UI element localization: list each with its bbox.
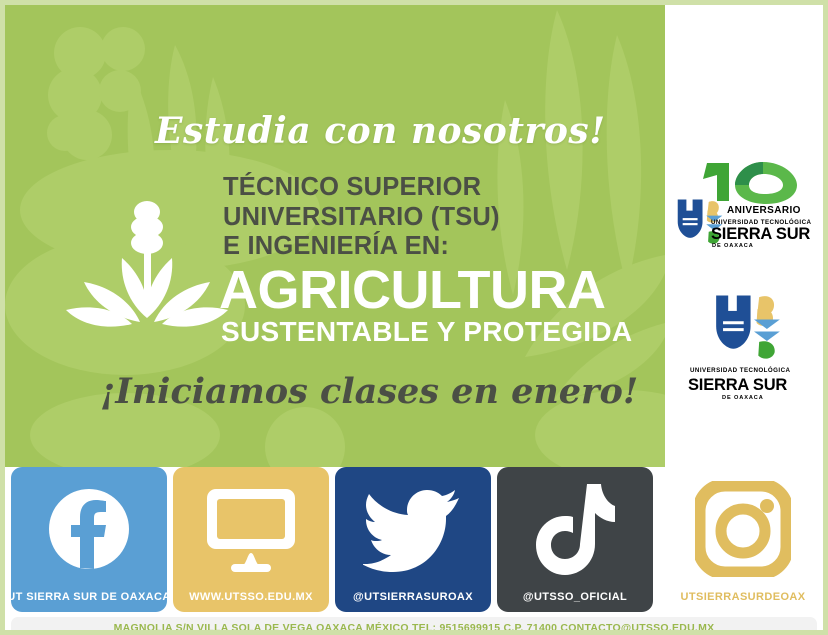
subtitle-line-2: UNIVERSITARIO (TSU) [223, 203, 500, 233]
address-text: MAGNOLIA S/N VILLA SOLA DE VEGA OAXACA M… [114, 622, 715, 634]
anniversary-logo-svg: ANIVERSARIO UNIVERSIDAD TECNOLÓGICA SIER… [671, 157, 823, 249]
social-tile-website[interactable]: WWW.UTSSO.EDU.MX [173, 467, 329, 612]
poster-root: Estudia con nosotros! TÉCNICO SUPERIOR U… [0, 0, 828, 635]
enrollment-callout-script: ¡Iniciamos clases en enero! [100, 371, 620, 412]
twitter-label: @UTSIERRASUROAX [353, 591, 473, 612]
instagram-icon [665, 467, 821, 591]
university-line3: DE OAXACA [722, 395, 764, 400]
facebook-label: UT SIERRA SUR DE OAXACA [11, 591, 167, 612]
wheat-plant-svg [60, 200, 235, 335]
subtitle-line-1: TÉCNICO SUPERIOR [223, 173, 500, 203]
logo-column: ANIVERSARIO UNIVERSIDAD TECNOLÓGICA SIER… [665, 5, 828, 467]
social-tile-twitter[interactable]: @UTSIERRASUROAX [335, 467, 491, 612]
address-footer: MAGNOLIA S/N VILLA SOLA DE VEGA OAXACA M… [11, 617, 817, 635]
headline-script: Estudia con nosotros! [155, 110, 595, 152]
twitter-icon [335, 467, 491, 591]
green-content-panel: Estudia con nosotros! TÉCNICO SUPERIOR U… [5, 5, 665, 467]
tiktok-label: @UTSSO_OFICIAL [523, 591, 627, 612]
social-links-row: UT SIERRA SUR DE OAXACA WWW.UTSSO.EDU.MX [5, 467, 823, 615]
anniversary-number-graphic [703, 162, 797, 204]
anniversary-sierra-sur: SIERRA SUR [711, 225, 810, 243]
program-subtitle: SUSTENTABLE Y PROTEGIDA [221, 318, 632, 346]
social-tile-instagram[interactable]: UTSIERRASURDEOAX [665, 467, 821, 612]
anniversary-oaxaca: DE OAXACA [712, 243, 754, 249]
university-line1: UNIVERSIDAD TECNOLÓGICA [690, 366, 790, 374]
university-line2: SIERRA SUR [688, 376, 787, 394]
shield-mark [716, 294, 780, 359]
social-tile-facebook[interactable]: UT SIERRA SUR DE OAXACA [11, 467, 167, 612]
tiktok-icon [497, 467, 653, 591]
social-tile-tiktok[interactable]: @UTSSO_OFICIAL [497, 467, 653, 612]
anniversary-logo: ANIVERSARIO UNIVERSIDAD TECNOLÓGICA SIER… [671, 157, 823, 249]
university-logo-svg: UNIVERSIDAD TECNOLÓGICA SIERRA SUR DE OA… [681, 290, 813, 400]
university-logo: UNIVERSIDAD TECNOLÓGICA SIERRA SUR DE OA… [681, 290, 813, 400]
instagram-label: UTSIERRASURDEOAX [681, 591, 806, 612]
monitor-icon [173, 467, 329, 591]
anniversary-word: ANIVERSARIO [727, 205, 801, 216]
website-label: WWW.UTSSO.EDU.MX [189, 591, 313, 612]
facebook-icon [11, 467, 167, 591]
program-title: AGRICULTURA [219, 263, 605, 317]
subtitle-line-3: E INGENIERÍA EN: [223, 232, 500, 262]
program-subtitle-block: TÉCNICO SUPERIOR UNIVERSITARIO (TSU) E I… [223, 173, 500, 262]
wheat-plant-icon [60, 200, 235, 335]
